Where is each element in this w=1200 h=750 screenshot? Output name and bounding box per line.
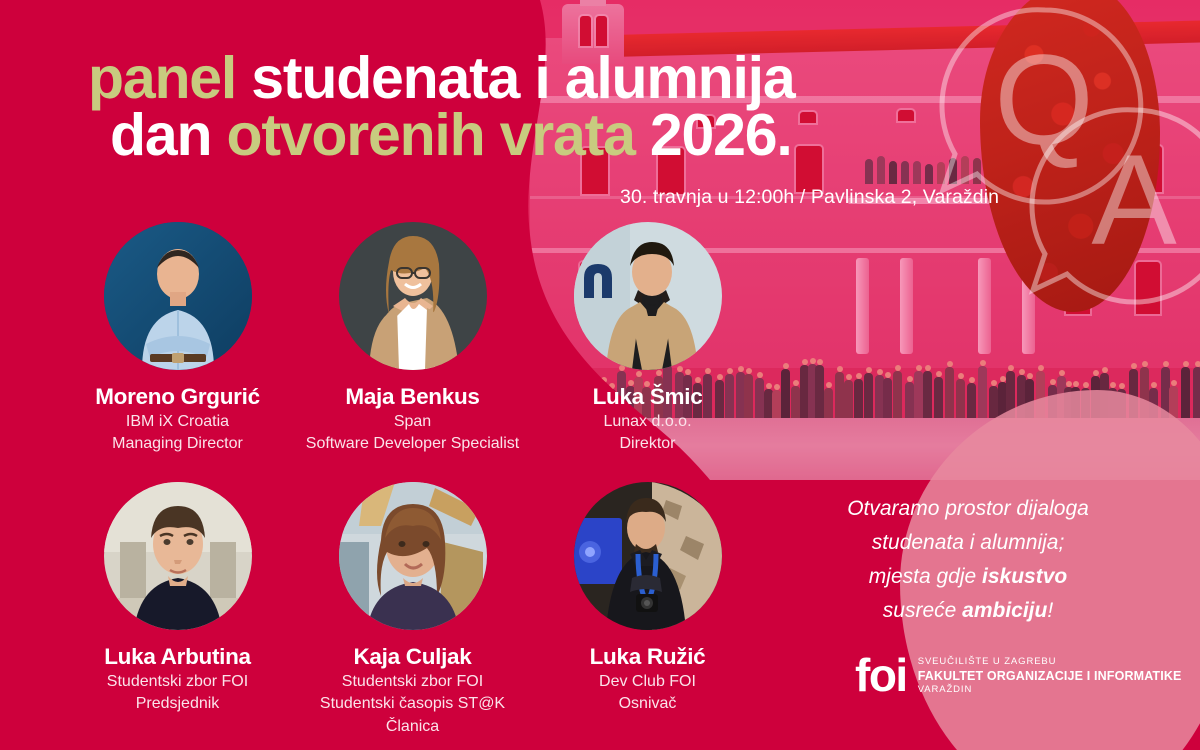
- speaker-detail-line: Span: [394, 411, 431, 432]
- speaker-detail-line: Software Developer Specialist: [306, 433, 519, 454]
- avatar: [104, 222, 252, 370]
- quote-line-3: mjesta gdje iskustvo: [808, 560, 1128, 594]
- speaker-card-luka-smic: Luka Šmic Lunax d.o.o. Direktor: [530, 222, 765, 455]
- poster-canvas: Q A panel studenata i alumnija dan otvor…: [0, 0, 1200, 750]
- foi-logo-text-block: SVEUČILIŠTE U ZAGREBU FAKULTET ORGANIZAC…: [918, 656, 1182, 696]
- avatar: [104, 482, 252, 630]
- speaker-name: Luka Ružić: [590, 644, 706, 670]
- foi-university-line: SVEUČILIŠTE U ZAGREBU: [918, 656, 1182, 668]
- quote-line4-tail: !: [1047, 599, 1053, 622]
- speaker-row-2: Luka Arbutina Studentski zbor FOI Predsj…: [60, 482, 765, 737]
- speaker-card-moreno-grguric: Moreno Grgurić IBM iX Croatia Managing D…: [60, 222, 295, 455]
- avatar: [574, 222, 722, 370]
- speaker-card-kaja-culjak: Kaja Culjak Studentski zbor FOI Students…: [295, 482, 530, 737]
- foi-city-line: VARAŽDIN: [918, 684, 1182, 696]
- foi-logo-wordmark: foi: [855, 655, 907, 696]
- speaker-detail-line: Direktor: [619, 433, 675, 454]
- avatar: [339, 482, 487, 630]
- headline-line-1: panel studenata i alumnija: [88, 50, 908, 107]
- speaker-detail-line: Lunax d.o.o.: [603, 411, 691, 432]
- page-title: panel studenata i alumnija dan otvorenih…: [88, 50, 908, 163]
- quote-emphasis-iskustvo: iskustvo: [982, 565, 1067, 588]
- speaker-card-luka-ruzic: Luka Ružić Dev Club FOI Osnivač: [530, 482, 765, 737]
- avatar: [574, 482, 722, 630]
- quote-line-1: Otvaramo prostor dijaloga: [808, 492, 1128, 526]
- speaker-detail-line: IBM iX Croatia: [126, 411, 229, 432]
- speaker-name: Moreno Grgurić: [95, 384, 260, 410]
- speaker-detail-line: Osnivač: [619, 693, 677, 714]
- speaker-detail-line: Studentski zbor FOI: [107, 671, 248, 692]
- foi-logo: foi SVEUČILIŠTE U ZAGREBU FAKULTET ORGAN…: [855, 655, 1182, 696]
- speaker-detail-line: Članica: [386, 716, 439, 737]
- speaker-name: Luka Arbutina: [104, 644, 251, 670]
- headline-words-otvorenih-vrata: otvorenih vrata: [226, 102, 634, 168]
- quote-line4-plain: susreće: [883, 599, 962, 622]
- speaker-row-1: Moreno Grgurić IBM iX Croatia Managing D…: [60, 222, 765, 455]
- headline-line-2: dan otvorenih vrata 2026.: [88, 107, 908, 164]
- headline-year: 2026.: [635, 102, 792, 168]
- quote-emphasis-ambiciju: ambiciju: [962, 599, 1047, 622]
- speaker-detail-line: Managing Director: [112, 433, 243, 454]
- quote-line-2: studenata i alumnija;: [808, 526, 1128, 560]
- avatar: [339, 222, 487, 370]
- quote-line3-plain: mjesta gdje: [869, 565, 982, 588]
- speaker-detail-line: Studentski zbor FOI: [342, 671, 483, 692]
- speaker-detail-line: Dev Club FOI: [599, 671, 696, 692]
- speaker-detail-line: Predsjednik: [136, 693, 220, 714]
- tagline-quote: Otvaramo prostor dijaloga studenata i al…: [808, 492, 1128, 628]
- speaker-name: Kaja Culjak: [353, 644, 471, 670]
- headline-word-dan: dan: [110, 102, 226, 168]
- speaker-card-luka-arbutina: Luka Arbutina Studentski zbor FOI Predsj…: [60, 482, 295, 737]
- event-datetime-location: 30. travnja u 12:00h / Pavlinska 2, Vara…: [620, 186, 999, 209]
- speaker-name: Maja Benkus: [345, 384, 479, 410]
- speaker-name: Luka Šmic: [593, 384, 703, 410]
- foi-faculty-line: FAKULTET ORGANIZACIJE I INFORMATIKE: [918, 668, 1182, 684]
- quote-line-4: susreće ambiciju!: [808, 594, 1128, 628]
- speaker-card-maja-benkus: Maja Benkus Span Software Developer Spec…: [295, 222, 530, 455]
- speaker-detail-line: Studentski časopis ST@K: [320, 693, 505, 714]
